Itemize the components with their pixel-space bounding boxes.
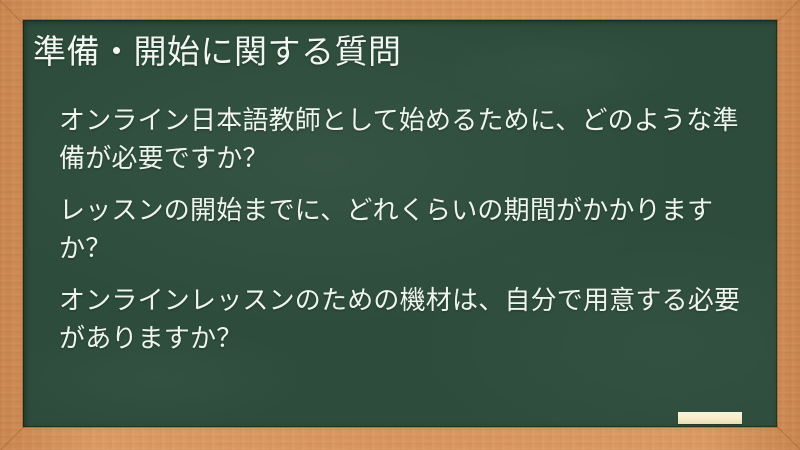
slide-title: 準備・開始に関する質問 [33, 30, 763, 74]
slide-content: 準備・開始に関する質問 オンライン日本語教師として始めるために、どのような準備が… [23, 20, 777, 427]
question-list: オンライン日本語教師として始めるために、どのような準備が必要ですか？ レッスンの… [59, 102, 759, 372]
list-item: レッスンの開始までに、どれくらいの期間がかかりますか？ [59, 192, 759, 268]
presentation-slide: 準備・開始に関する質問 オンライン日本語教師として始めるために、どのような準備が… [0, 0, 800, 450]
chalkboard-surface: 準備・開始に関する質問 オンライン日本語教師として始めるために、どのような準備が… [23, 20, 777, 427]
list-item: オンライン日本語教師として始めるために、どのような準備が必要ですか？ [59, 102, 759, 178]
chalk-stick-icon [678, 412, 742, 424]
list-item: オンラインレッスンのための機材は、自分で用意する必要がありますか？ [59, 282, 759, 358]
